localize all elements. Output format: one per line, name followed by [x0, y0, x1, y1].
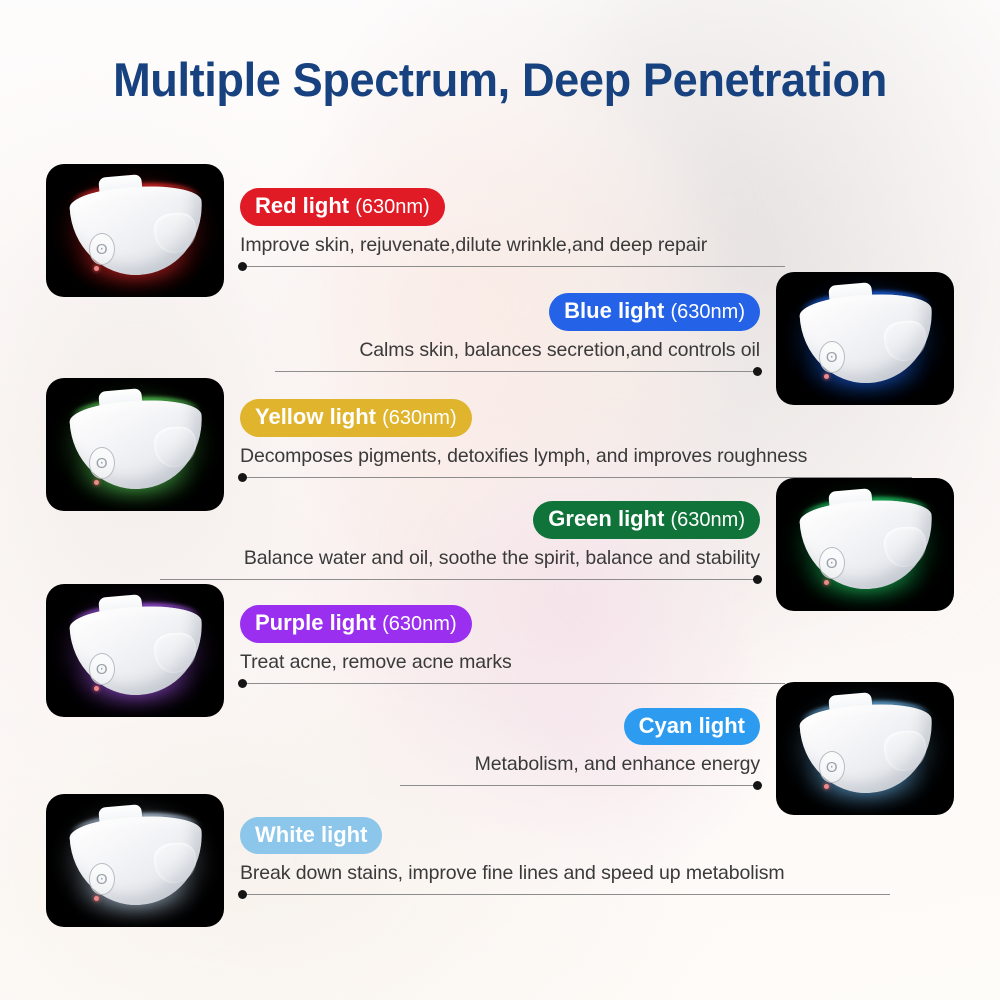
rule-dot	[753, 575, 762, 584]
product-thumbnail-white: ʘ	[46, 794, 224, 927]
row-rule-blue	[275, 371, 760, 372]
infographic-poster: Multiple Spectrum, Deep Penetration ʘ ʘ …	[0, 0, 1000, 1000]
badge-wavelength: (630nm)	[382, 407, 456, 429]
device-logo-glyph: ʘ	[826, 555, 838, 572]
product-thumbnail-blue: ʘ	[776, 272, 954, 405]
badge-cyan-light[interactable]: Cyan light	[624, 708, 760, 745]
device-logo-glyph: ʘ	[96, 455, 108, 472]
badge-wavelength: (630nm)	[355, 196, 429, 218]
description-white: Break down stains, improve fine lines an…	[240, 862, 890, 885]
device-logo-button: ʘ	[89, 233, 115, 265]
product-thumbnail-purple: ʘ	[46, 584, 224, 717]
page-title: Multiple Spectrum, Deep Penetration	[20, 52, 980, 107]
device-logo-glyph: ʘ	[826, 349, 838, 366]
badge-white-light[interactable]: White light	[240, 817, 382, 854]
badge-label: Blue light	[564, 298, 664, 323]
rule-dot	[238, 890, 247, 899]
row-rule-cyan	[400, 785, 760, 786]
description-purple: Treat acne, remove acne marks	[240, 651, 785, 674]
rule-dot	[753, 367, 762, 376]
badge-wavelength: (630nm)	[671, 509, 745, 531]
spectrum-row-white: White light Break down stains, improve f…	[240, 817, 890, 895]
badge-label: White light	[255, 822, 367, 847]
row-rule-green	[160, 579, 760, 580]
badge-label: Cyan light	[639, 713, 745, 738]
row-rule-white	[240, 894, 890, 895]
device-logo-button: ʘ	[819, 341, 845, 373]
spectrum-row-cyan: Cyan light Metabolism, and enhance energ…	[400, 708, 760, 786]
device-logo-glyph: ʘ	[826, 759, 838, 776]
badge-purple-light[interactable]: Purple light (630nm)	[240, 605, 472, 643]
rule-dot	[753, 781, 762, 790]
device-logo-button: ʘ	[819, 751, 845, 783]
description-blue: Calms skin, balances secretion,and contr…	[275, 339, 760, 362]
device-logo-button: ʘ	[89, 863, 115, 895]
product-thumbnail-red: ʘ	[46, 164, 224, 297]
rule-dot	[238, 262, 247, 271]
rule-dot	[238, 679, 247, 688]
description-cyan: Metabolism, and enhance energy	[400, 753, 760, 776]
spectrum-row-red: Red light (630nm) Improve skin, rejuvena…	[240, 188, 785, 267]
spectrum-row-purple: Purple light (630nm) Treat acne, remove …	[240, 605, 785, 684]
product-thumbnail-yellow: ʘ	[46, 378, 224, 511]
badge-label: Green light	[548, 506, 664, 531]
product-thumbnail-green: ʘ	[776, 478, 954, 611]
spectrum-row-yellow: Yellow light (630nm) Decomposes pigments…	[240, 399, 912, 478]
row-rule-yellow	[240, 477, 912, 478]
device-logo-button: ʘ	[89, 653, 115, 685]
badge-red-light[interactable]: Red light (630nm)	[240, 188, 445, 226]
description-red: Improve skin, rejuvenate,dilute wrinkle,…	[240, 234, 785, 257]
product-thumbnail-cyan: ʘ	[776, 682, 954, 815]
badge-wavelength: (630nm)	[671, 301, 745, 323]
row-rule-purple	[240, 683, 785, 684]
spectrum-row-blue: Blue light (630nm) Calms skin, balances …	[275, 293, 760, 372]
badge-label: Yellow light	[255, 404, 376, 429]
badge-label: Red light	[255, 193, 349, 218]
row-rule-red	[240, 266, 785, 267]
device-logo-glyph: ʘ	[96, 661, 108, 678]
device-logo-button: ʘ	[89, 447, 115, 479]
badge-blue-light[interactable]: Blue light (630nm)	[549, 293, 760, 331]
device-logo-button: ʘ	[819, 547, 845, 579]
description-green: Balance water and oil, soothe the spirit…	[160, 547, 760, 570]
badge-wavelength: (630nm)	[382, 613, 456, 635]
spectrum-row-green: Green light (630nm) Balance water and oi…	[160, 501, 760, 580]
description-yellow: Decomposes pigments, detoxifies lymph, a…	[240, 445, 912, 468]
device-logo-glyph: ʘ	[96, 871, 108, 888]
rule-dot	[238, 473, 247, 482]
badge-yellow-light[interactable]: Yellow light (630nm)	[240, 399, 472, 437]
badge-label: Purple light	[255, 610, 376, 635]
device-logo-glyph: ʘ	[96, 241, 108, 258]
badge-green-light[interactable]: Green light (630nm)	[533, 501, 760, 539]
